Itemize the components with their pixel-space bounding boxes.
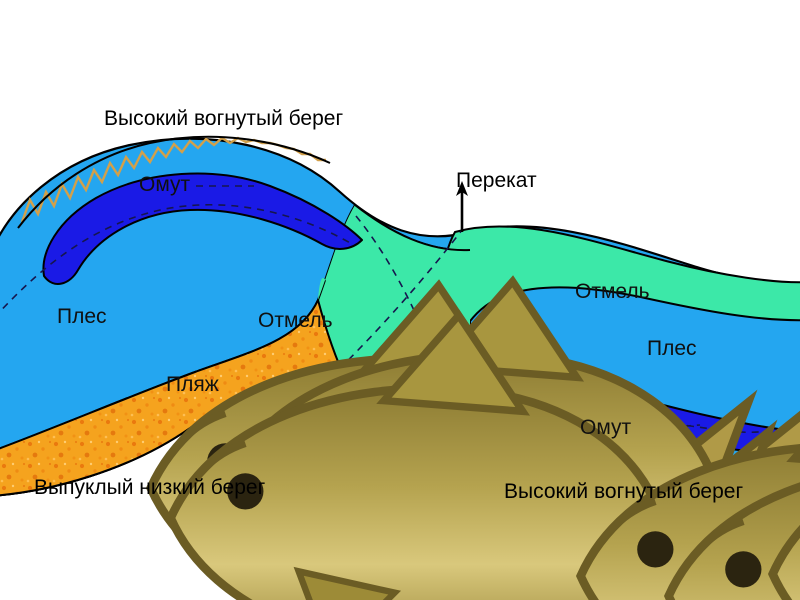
label-otmel-right: Отмель [575,281,650,302]
label-plyazh: Пляж [166,374,219,395]
diagram-canvas: Высокий вогнутый берег Омут Плес Отмель … [0,0,800,600]
label-omut-right: Омут [580,417,631,438]
label-otmel-left: Отмель [258,310,333,331]
label-ples-left: Плес [57,306,107,327]
river-channel-diagram [0,0,800,600]
label-omut-left: Омут [139,174,190,195]
label-high-concave-bank-top: Высокий вогнутый берег [104,108,343,129]
label-high-concave-bank-bottom: Высокий вогнутый берег [504,481,743,502]
label-perekat: Перекат [456,170,537,191]
label-convex-low-bank: Выпуклый низкий берег [34,477,265,498]
label-ples-right: Плес [647,338,697,359]
